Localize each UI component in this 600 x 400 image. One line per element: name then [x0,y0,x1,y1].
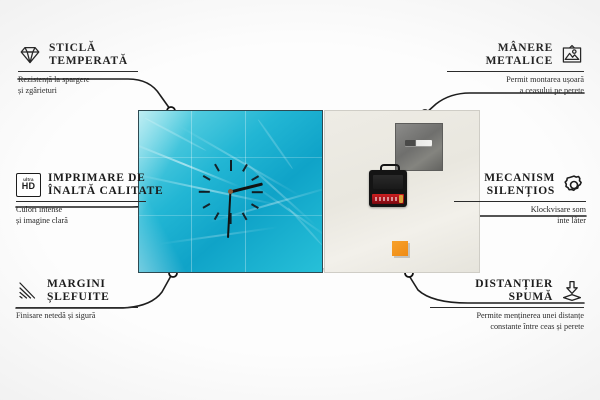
feature-desc-line1: Rezistență la spargere [18,75,138,86]
feature-rule [16,201,146,202]
center-pin [228,189,233,194]
product-image [138,110,480,273]
feature-distantier-spuma: DISTANȚIER SPUMĂ Permite menținerea unei… [430,278,584,332]
metal-hanger-plate [395,123,443,171]
diamond-icon [18,43,42,67]
feature-title-line2: ȘLEFUITE [47,291,109,304]
feature-desc-line1: Culori intense [16,205,146,216]
clock-mechanism [369,170,407,207]
feature-desc-line2: și zgârieturi [18,86,138,97]
feature-rule [454,201,586,202]
feature-rule [447,71,584,72]
feature-sticla-temperata: STICLĂ TEMPERATĂ Rezistență la spargere … [18,42,138,96]
polished-edges-icon [16,279,40,303]
feature-rule [430,307,584,308]
ultra-hd-icon: ultra HD [16,173,41,197]
ultra-hd-icon-main: HD [22,182,35,192]
feature-desc-line1: Finisare netedă și sigură [16,311,138,322]
feature-title-line2: ÎNALTĂ CALITATE [48,185,163,198]
feature-desc-line1: Permit montarea ușoară [447,75,584,86]
clock-face-glass [138,110,323,273]
feature-desc-line2: inte låter [454,216,586,227]
battery [372,194,404,204]
foam-spacer-icon [560,279,584,303]
feature-desc-line1: Permite menținerea unei distanțe [430,311,584,322]
infographic-canvas: STICLĂ TEMPERATĂ Rezistență la spargere … [0,0,600,400]
feature-desc-line2: și imagine clară [16,216,146,227]
feature-desc-line2: a ceasului pe perete [447,86,584,97]
feature-title-line1: IMPRIMARE DE [48,172,163,185]
feature-title-line1: MECANISM [484,172,555,185]
feature-title-line1: DISTANȚIER [475,278,553,291]
feature-title-line1: MARGINI [47,278,109,291]
gear-icon [562,173,586,197]
feature-margini-slefuite: MARGINI ȘLEFUITE Finisare netedă și sigu… [16,278,138,322]
feature-mecanism-silentios: MECANISM SILENȚIOS Klockvisare som inte … [454,172,586,226]
feature-desc-line1: Klockvisare som [454,205,586,216]
feature-title-line2: SILENȚIOS [484,185,555,198]
feature-manere-metalice: MÂNERE METALICE Permit montarea ușoară a… [447,42,584,96]
feature-title-line2: METALICE [486,55,553,68]
feature-imprimare-hd: ultra HD IMPRIMARE DE ÎNALTĂ CALITATE Cu… [16,172,146,226]
feature-title-line2: SPUMĂ [475,291,553,304]
feature-title-line2: TEMPERATĂ [49,55,128,68]
foam-spacer [392,241,408,256]
feature-rule [18,71,138,72]
feature-title-line1: STICLĂ [49,42,128,55]
feature-desc-line2: constante între ceas și perete [430,322,584,333]
picture-hanger-icon [560,43,584,67]
feature-title-line1: MÂNERE [486,42,553,55]
feature-rule [16,307,138,308]
